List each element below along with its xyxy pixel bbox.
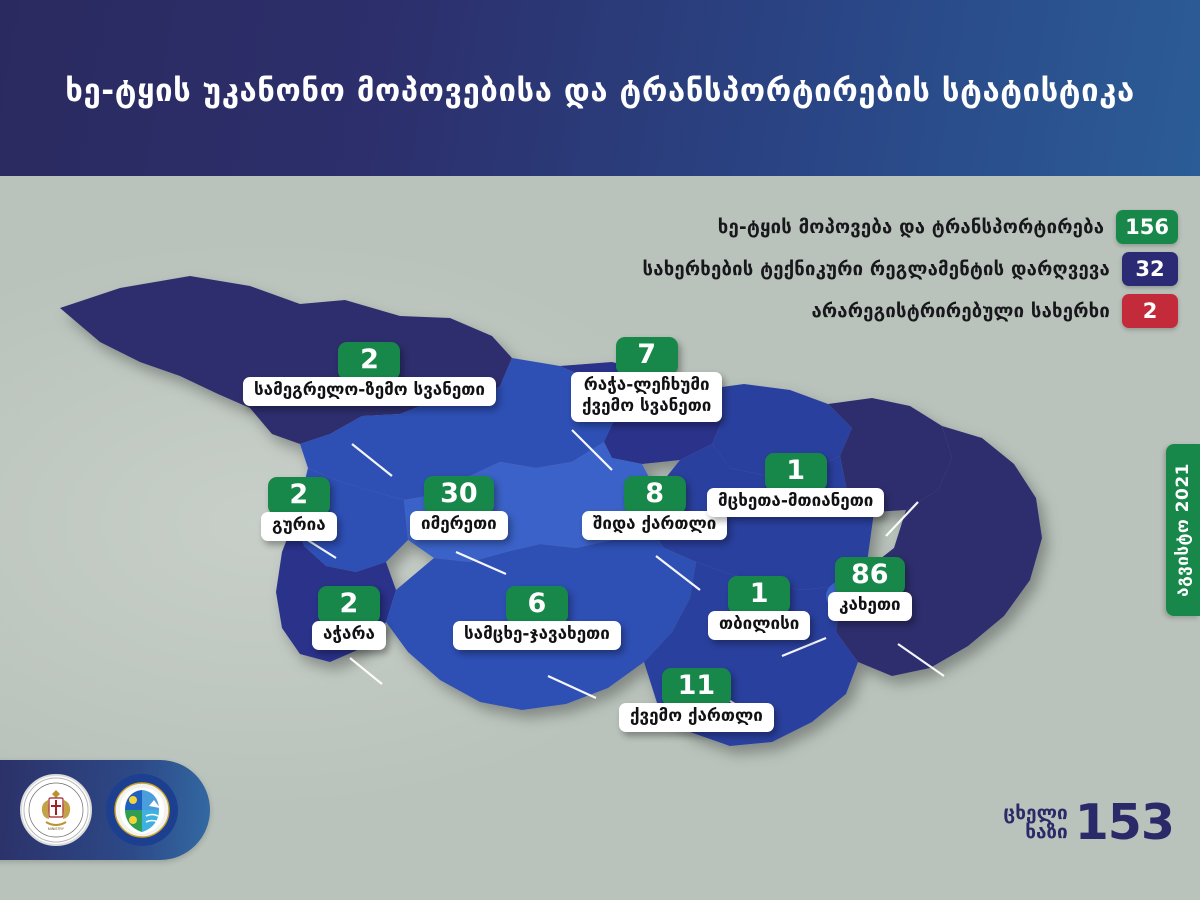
callout-samtskhe-javakheti[interactable]: 6 სამცხე-ჯავახეთი — [453, 586, 621, 650]
legend-badge: 156 — [1116, 210, 1178, 244]
callout-value: 7 — [616, 337, 678, 375]
callout-tbilisi[interactable]: 1 თბილისი — [708, 576, 810, 640]
ministry-emblem-icon — [106, 774, 178, 846]
legend-badge: 2 — [1122, 294, 1178, 328]
callout-adjara[interactable]: 2 აჭარა — [312, 586, 386, 650]
callout-mtskheta-mtianeti[interactable]: 1 მცხეთა-მთიანეთი — [707, 453, 884, 517]
date-tab-label: აგვისტო 2021 — [1173, 463, 1193, 597]
infographic-root: ხე-ტყის უკანონო მოპოვებისა და ტრანსპორტი… — [0, 0, 1200, 900]
legend-label: ხე-ტყის მოპოვება და ტრანსპორტირება — [718, 217, 1104, 238]
legend-item-illegal-logging: ხე-ტყის მოპოვება და ტრანსპორტირება 156 — [558, 210, 1178, 244]
callout-label: იმერეთი — [410, 511, 508, 540]
callout-imereti[interactable]: 30 იმერეთი — [410, 476, 508, 540]
callout-value: 30 — [424, 476, 494, 514]
callout-value: 2 — [268, 477, 330, 515]
legend-label: არარეგისტრირებული სახერხი — [811, 301, 1110, 322]
callout-label: თბილისი — [708, 611, 810, 640]
callout-label: მცხეთა-მთიანეთი — [707, 488, 884, 517]
svg-text:MINISTRY: MINISTRY — [48, 827, 65, 831]
callout-shida-kartli[interactable]: 8 შიდა ქართლი — [582, 476, 727, 540]
legend-label: სახერხების ტექნიკური რეგლამენტის დარღვევ… — [643, 259, 1110, 280]
callout-label: აჭარა — [312, 621, 386, 650]
callout-label: სამცხე-ჯავახეთი — [453, 621, 621, 650]
callout-guria[interactable]: 2 გურია — [261, 477, 337, 541]
legend-item-unregistered-sawmill: არარეგისტრირებული სახერხი 2 — [558, 294, 1178, 328]
legend-item-sawmill-regulation: სახერხების ტექნიკური რეგლამენტის დარღვევ… — [558, 252, 1178, 286]
callout-value: 6 — [506, 586, 568, 624]
callout-kvemo-kartli[interactable]: 11 ქვემო ქართლი — [619, 668, 774, 732]
callout-value: 11 — [662, 668, 732, 706]
callout-value: 2 — [318, 586, 380, 624]
callout-value: 86 — [835, 557, 905, 595]
callout-samegrelo-zemo-svaneti[interactable]: 2 სამეგრელო-ზემო სვანეთი — [243, 342, 496, 406]
callout-label: შიდა ქართლი — [582, 511, 727, 540]
callout-value: 1 — [765, 453, 827, 491]
hotline: ცხელი ხაზი 153 — [1003, 802, 1174, 844]
hotline-label-line2: ხაზი — [1003, 823, 1067, 842]
government-emblem-icon: MINISTRY — [20, 774, 92, 846]
callout-label: ქვემო ქართლი — [619, 703, 774, 732]
date-tab: აგვისტო 2021 — [1166, 444, 1200, 616]
callout-label: გურია — [261, 512, 337, 541]
callout-label: კახეთი — [828, 592, 912, 621]
callout-value: 1 — [728, 576, 790, 614]
legend: ხე-ტყის მოპოვება და ტრანსპორტირება 156 ს… — [558, 210, 1178, 328]
callout-value: 8 — [624, 476, 686, 514]
callout-label: რაჭა-ლეჩხუმი ქვემო სვანეთი — [571, 372, 722, 421]
callout-label: სამეგრელო-ზემო სვანეთი — [243, 377, 496, 406]
callout-racha-lechkhumi-kvemo-svaneti[interactable]: 7 რაჭა-ლეჩხუმი ქვემო სვანეთი — [571, 337, 722, 422]
header-banner: ხე-ტყის უკანონო მოპოვებისა და ტრანსპორტი… — [0, 0, 1200, 176]
callout-kakheti[interactable]: 86 კახეთი — [828, 557, 912, 621]
page-title: ხე-ტყის უკანონო მოპოვებისა და ტრანსპორტი… — [65, 67, 1135, 109]
hotline-label: ცხელი ხაზი — [1003, 804, 1067, 842]
hotline-number: 153 — [1075, 802, 1174, 844]
callout-value: 2 — [338, 342, 400, 380]
legend-badge: 32 — [1122, 252, 1178, 286]
logo-panel: MINISTRY — [0, 760, 210, 860]
